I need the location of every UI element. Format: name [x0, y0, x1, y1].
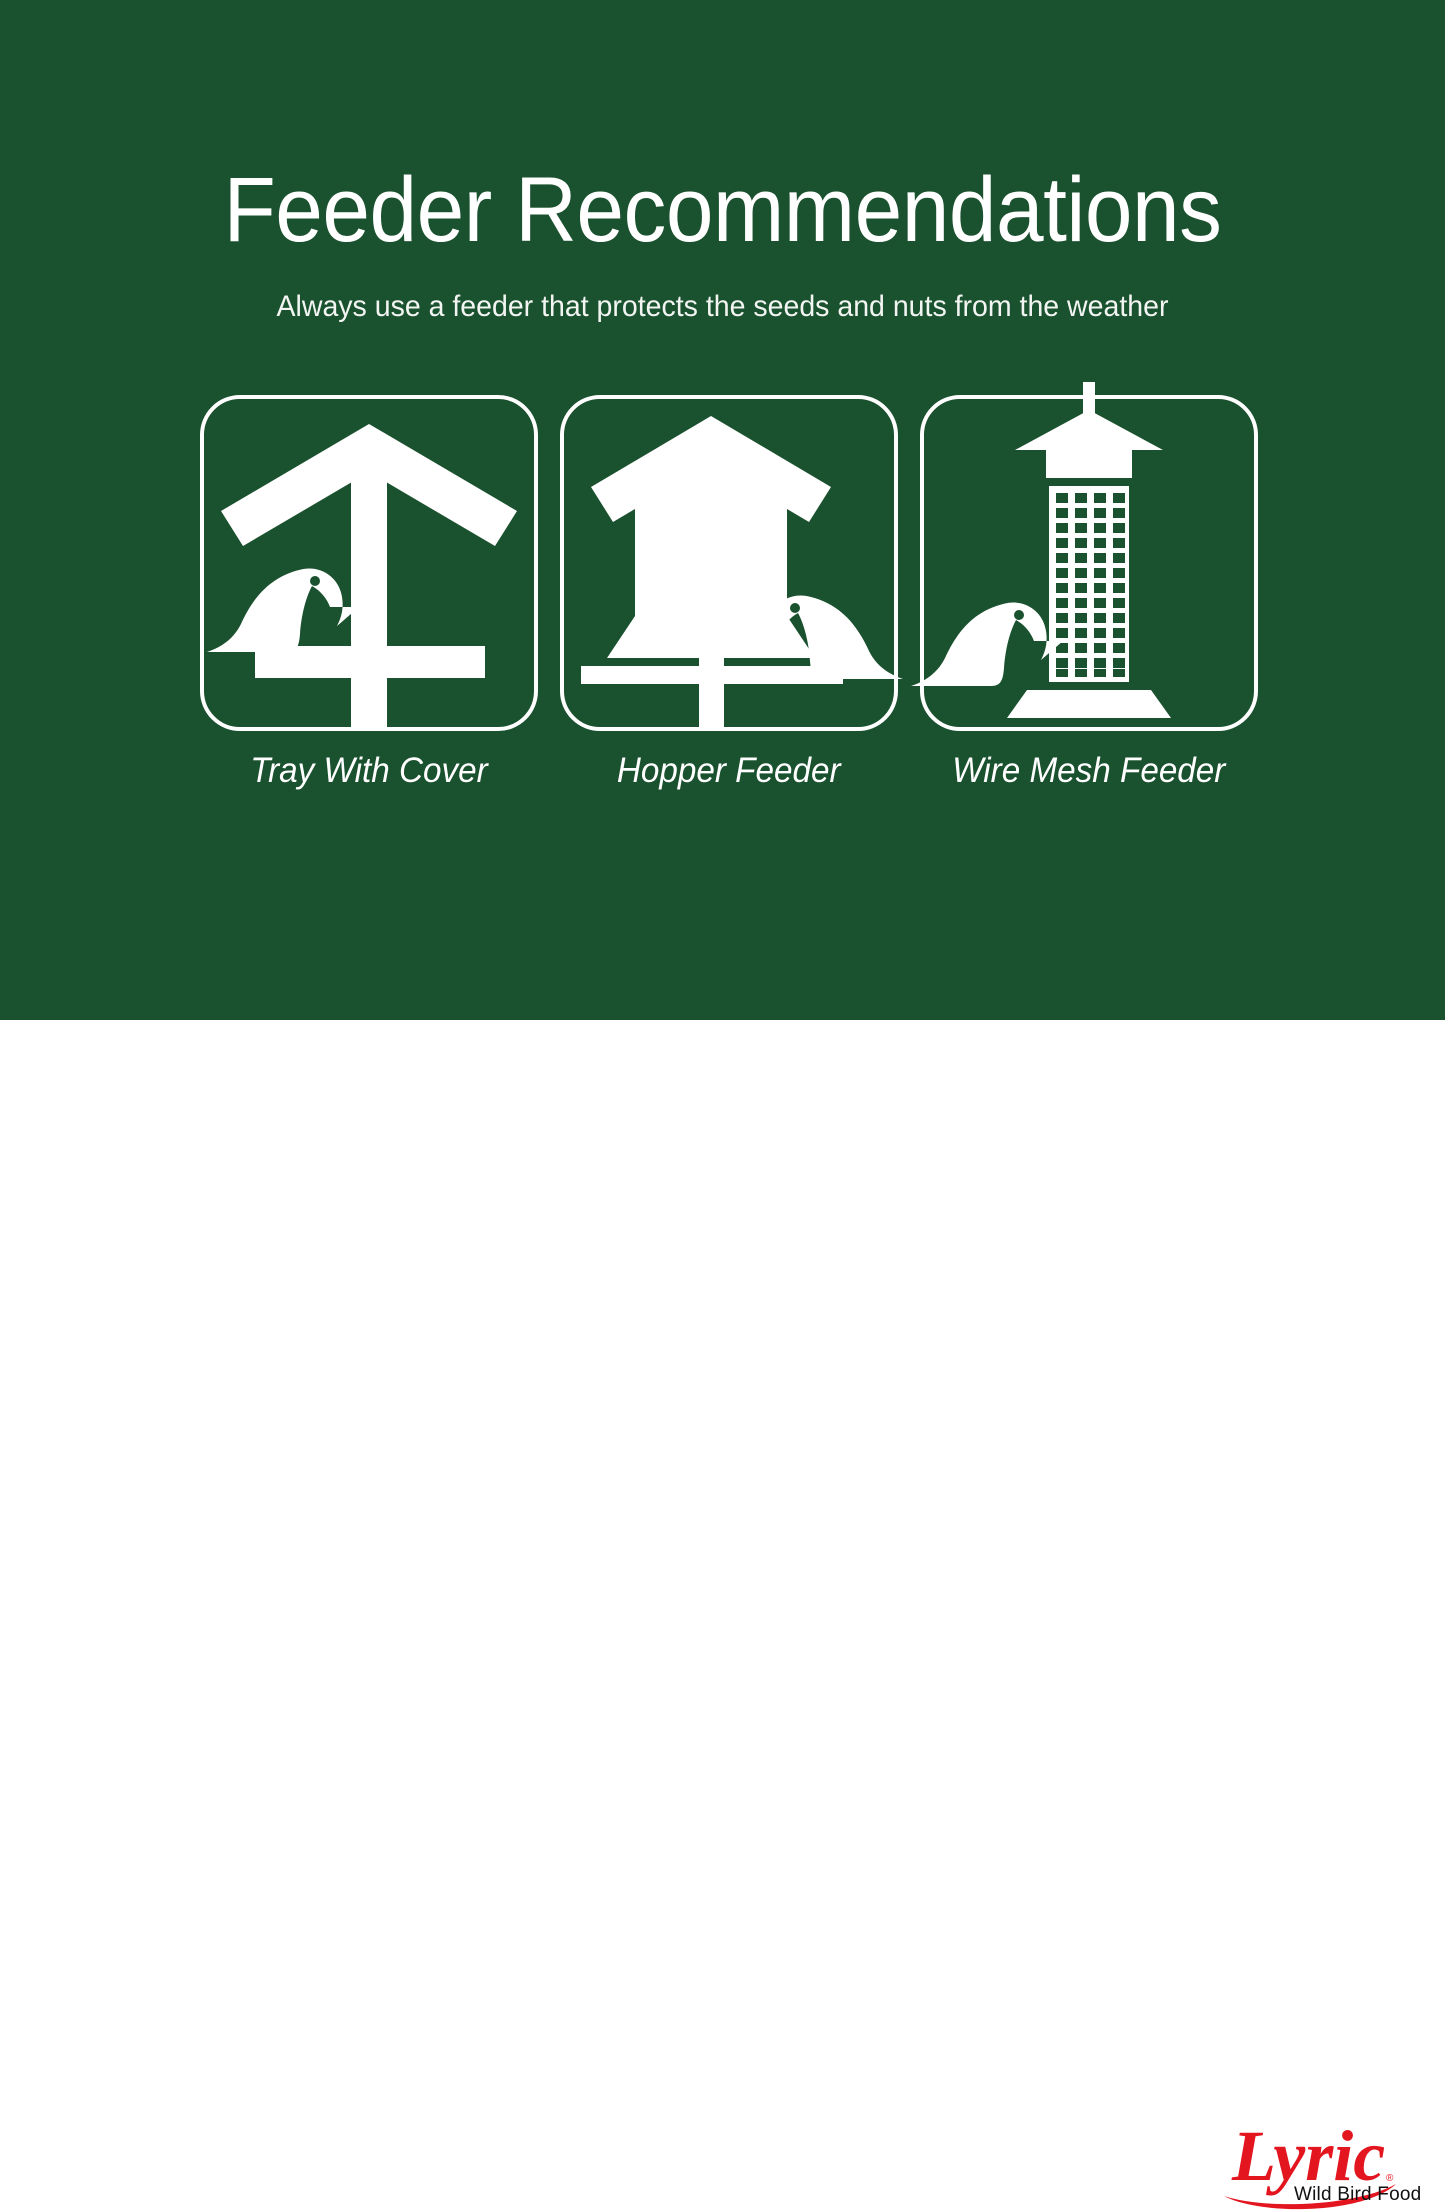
base-tray-shape [1007, 690, 1171, 718]
feeder-label-wire-mesh-feeder: Wire Mesh Feeder [952, 750, 1225, 792]
feeder-label-hopper-feeder: Hopper Feeder [617, 750, 841, 792]
feeder-card-wire-mesh-feeder[interactable]: Wire Mesh Feeder [919, 394, 1259, 792]
hopper-feeder-icon-box [559, 394, 899, 732]
cap-roof-shape [1015, 410, 1163, 478]
logo-tagline: Wild Bird Food [1294, 2184, 1421, 2205]
bird-eye [790, 603, 800, 613]
feeder-label-tray-with-cover: Tray With Cover [250, 750, 487, 792]
wire-mesh-feeder-icon-box [919, 394, 1259, 732]
feeder-icon-row: Tray With Cover [199, 394, 1259, 794]
wire-mesh-feeder-icon [911, 382, 1171, 718]
tray-with-cover-icon-box [199, 394, 539, 732]
hero-panel: Feeder Recommendations Always use a feed… [0, 0, 1445, 1020]
registered-mark-icon: ® [1386, 2173, 1394, 2184]
bird-eye [310, 576, 320, 586]
lyric-logo: Lyric ® Wild Bird Food [1218, 2118, 1408, 2210]
center-post-shape [699, 656, 724, 729]
feeder-card-hopper-feeder[interactable]: Hopper Feeder [559, 394, 899, 792]
bird-icon [911, 603, 1063, 686]
footer-band: Lyric ® Wild Bird Food [0, 1020, 1445, 1204]
bird-icon [207, 569, 359, 652]
tray-with-cover-icon [207, 424, 517, 729]
page-subtitle: Always use a feeder that protects the se… [36, 288, 1409, 326]
feeder-card-tray-with-cover[interactable]: Tray With Cover [199, 394, 539, 792]
hopper-feeder-icon [581, 416, 903, 729]
page-title: Feeder Recommendations [51, 160, 1395, 260]
center-post-shape [351, 456, 387, 729]
bird-eye [1014, 610, 1024, 620]
